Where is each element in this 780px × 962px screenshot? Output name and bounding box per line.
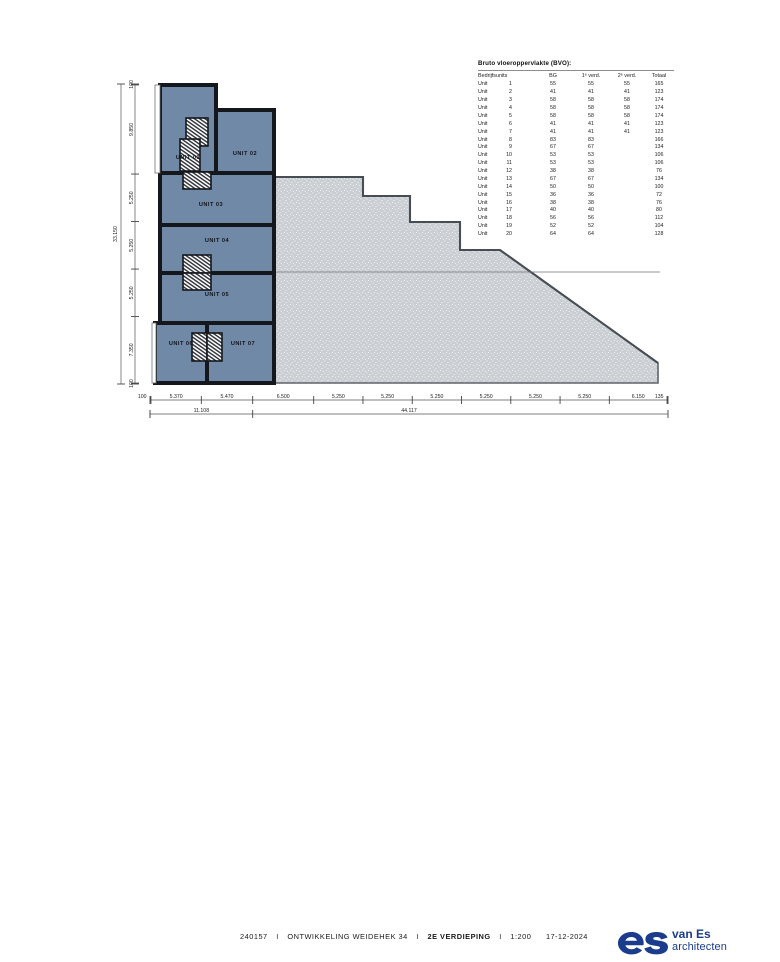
title-block-text: 240157 I ONTWIKKELING WEIDEHEK 34 I 2E V… bbox=[240, 932, 531, 941]
unit-06-label: UNIT 06 bbox=[169, 341, 193, 347]
left-dimension-label: 5.250 bbox=[129, 191, 135, 204]
left-dimension-label: 7.350 bbox=[129, 343, 135, 356]
drawing-title: 2E VERDIEPING bbox=[427, 932, 490, 941]
bottom-total-dimension-labels: 11.10844.117 bbox=[150, 408, 668, 418]
bottom-dimension-label: 5.250 bbox=[381, 394, 394, 400]
bottom-total-label: 11.108 bbox=[194, 408, 210, 414]
unit-05-label: UNIT 05 bbox=[205, 292, 229, 298]
separator-1: I bbox=[270, 932, 285, 941]
unit-04-shape bbox=[160, 225, 274, 273]
left-dimension-label: 5.250 bbox=[129, 239, 135, 252]
left-facade-strip-bottom bbox=[152, 323, 156, 383]
separator-3: I bbox=[493, 932, 508, 941]
logo-line-2: architecten bbox=[672, 941, 727, 954]
unit-04-label: UNIT 04 bbox=[205, 238, 230, 244]
floor-plan-drawing: UNIT 01 UNIT 02 UNIT 03 UNIT 04 UNIT 05 … bbox=[0, 0, 780, 460]
project-number: 240157 bbox=[240, 932, 268, 941]
es-monogram-icon bbox=[616, 928, 670, 958]
left-dimension-label: 5.250 bbox=[129, 286, 135, 299]
unit-01-label: UNIT 01 bbox=[176, 155, 200, 161]
bottom-dimension-label: 5.250 bbox=[529, 394, 542, 400]
unit-05-shape bbox=[160, 273, 274, 323]
stair-icon-unit-03 bbox=[183, 172, 211, 189]
logo-wordmark: van Es architecten bbox=[672, 928, 727, 953]
hatched-building-volume bbox=[256, 177, 660, 383]
left-dimension-label: 9.850 bbox=[129, 123, 135, 136]
unit-02-label: UNIT 02 bbox=[233, 151, 257, 157]
drawing-scale: 1:200 bbox=[510, 932, 531, 941]
stair-icon-unit-05 bbox=[183, 273, 211, 290]
bottom-dimension-label: 100 bbox=[138, 394, 147, 400]
separator-2: I bbox=[410, 932, 425, 941]
bottom-dimension-label: 5.250 bbox=[430, 394, 443, 400]
unit-03-label: UNIT 03 bbox=[199, 202, 223, 208]
left-dimension-ticks bbox=[117, 84, 139, 384]
bottom-dimension-label: 6.500 bbox=[277, 394, 290, 400]
bottom-dimension-label: 5.370 bbox=[170, 394, 183, 400]
company-logo: van Es architecten bbox=[616, 926, 756, 962]
bottom-dimension-label: 5.470 bbox=[221, 394, 234, 400]
unit-07-label: UNIT 07 bbox=[231, 341, 255, 347]
bottom-dimension-label: 135 bbox=[655, 394, 664, 400]
bottom-dimension-label: 6.150 bbox=[632, 394, 645, 400]
unit-02-shape bbox=[216, 110, 274, 173]
left-dimension-labels: 1009.8505.2505.2505.2507.350100 bbox=[129, 80, 135, 388]
left-total-dimension-label: 33.150 bbox=[113, 226, 119, 242]
project-name: ONTWIKKELING WEIDEHEK 34 bbox=[287, 932, 407, 941]
drawing-date: 17-12-2024 bbox=[546, 932, 588, 941]
left-dimension-label: 100 bbox=[129, 379, 135, 388]
bottom-dimension-labels: 1005.3705.4706.5005.2505.2505.2505.2505.… bbox=[138, 394, 664, 400]
stair-icon-unit-07 bbox=[207, 333, 222, 361]
bottom-total-label: 44.117 bbox=[401, 408, 417, 414]
title-block: 240157 I ONTWIKKELING WEIDEHEK 34 I 2E V… bbox=[0, 462, 780, 520]
bottom-dimension-label: 5.250 bbox=[578, 394, 591, 400]
stair-icon-unit-06 bbox=[192, 333, 207, 361]
bottom-dimension-label: 5.250 bbox=[332, 394, 345, 400]
stair-icon-unit-04 bbox=[183, 255, 211, 273]
bottom-dimension-label: 5.250 bbox=[480, 394, 493, 400]
left-dimension-label: 100 bbox=[129, 80, 135, 89]
unit-03-shape bbox=[160, 173, 274, 225]
left-facade-strip-top bbox=[155, 85, 160, 173]
drawing-sheet: Bruto vloeroppervlakte (BVO): Bedrijfsun… bbox=[0, 0, 780, 520]
logo-line-1: van Es bbox=[672, 928, 727, 941]
